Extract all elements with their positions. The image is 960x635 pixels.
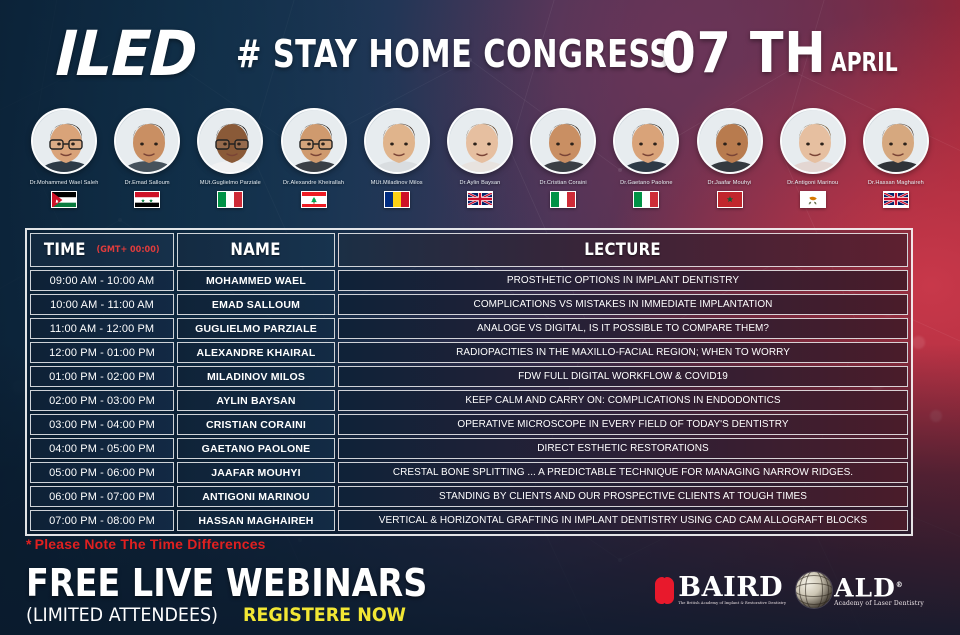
header-cell-name: NAME [177,233,335,267]
time-difference-note: *Please Note The Time Differences [26,536,266,552]
cell-name: MOHAMMED WAEL [177,270,335,291]
cell-time: 11:00 AM - 12:00 PM [30,318,174,339]
ald-wordmark: ALD [834,573,896,602]
speaker-name: MUt.Guglielmo Parziale [200,179,261,187]
avatar [780,108,846,174]
time-value: 04:00 PM - 05:00 PM [49,443,155,455]
table-row: 09:00 AM - 10:00 AMMOHAMMED WAELPROSTHET… [30,270,908,291]
avatar [281,108,347,174]
asterisk-icon: * [26,536,32,552]
speaker-card: Dr.Mohammed Wael Saleh [24,108,104,208]
time-value: 05:00 PM - 06:00 PM [49,467,155,479]
speaker-name: Dr.Aylin Baysan [459,179,500,187]
time-value: 09:00 AM - 10:00 AM [50,275,155,287]
cell-time: 04:00 PM - 05:00 PM [30,438,174,459]
header-label-name: NAME [231,240,281,260]
speaker-card: Dr.Antigoni Marinou [773,108,853,208]
speaker-card: Dr.Cristian Coraini [523,108,603,208]
table-row: 01:00 PM - 02:00 PMMILADINOV MILOSFDW FU… [30,366,908,387]
baird-logo: BAIRD The British Academy of Implant & R… [655,574,786,606]
speaker-value: MILADINOV MILOS [207,371,305,383]
cell-time: 03:00 PM - 04:00 PM [30,414,174,435]
speaker-name: Dr.Emad Salloum [125,179,170,187]
header-cell-lecture: LECTURE [338,233,908,267]
lecture-value: VERTICAL & HORIZONTAL GRAFTING IN IMPLAN… [379,515,867,526]
poster-header: ILED # STAY HOME CONGRESS 07 TH APRIL [0,14,960,94]
sponsor-logos: BAIRD The British Academy of Implant & R… [655,572,924,608]
flag-jordan [51,191,77,208]
time-value: 11:00 AM - 12:00 PM [50,323,154,335]
header-cell-time: TIME (GMT+ 00:00) [30,233,174,267]
time-value: 12:00 PM - 01:00 PM [49,347,155,359]
cell-lecture: FDW FULL DIGITAL WORKFLOW & COVID19 [338,366,908,387]
cell-name: GAETANO PAOLONE [177,438,335,459]
lecture-value: STANDING BY CLIENTS AND OUR PROSPECTIVE … [439,491,807,502]
cell-name: AYLIN BAYSAN [177,390,335,411]
cell-lecture: PROSTHETIC OPTIONS IN IMPLANT DENTISTRY [338,270,908,291]
register-now-cta[interactable]: REGISTERE NOW [243,604,406,626]
cell-time: 12:00 PM - 01:00 PM [30,342,174,363]
time-value: 06:00 PM - 07:00 PM [49,491,155,503]
avatar [863,108,929,174]
globe-icon [796,572,832,608]
ald-logo: ALD® Academy of Laser Dentistry [796,572,924,608]
cell-time: 07:00 PM - 08:00 PM [30,510,174,531]
lecture-value: CRESTAL BONE SPLITTING ... A PREDICTABLE… [393,467,853,478]
speaker-name: MUt.Miladinov Milos [371,179,423,187]
lecture-value: RADIOPACITIES IN THE MAXILLO-FACIAL REGI… [456,347,790,358]
table-row: 06:00 PM - 07:00 PMANTIGONI MARINOUSTAND… [30,486,908,507]
avatar [530,108,596,174]
cell-lecture: STANDING BY CLIENTS AND OUR PROSPECTIVE … [338,486,908,507]
cell-time: 09:00 AM - 10:00 AM [30,270,174,291]
avatar [697,108,763,174]
lecture-value: COMPLICATIONS VS MISTAKES IN IMMEDIATE I… [474,299,773,310]
flag-italy [217,191,243,208]
cell-time: 06:00 PM - 07:00 PM [30,486,174,507]
speaker-value: EMAD SALLOUM [212,299,300,311]
registered-icon: ® [896,580,904,589]
speaker-value: ANTIGONI MARINOU [202,491,310,503]
cell-lecture: DIRECT ESTHETIC RESTORATIONS [338,438,908,459]
tooth-icon [655,577,674,604]
cell-name: ANTIGONI MARINOU [177,486,335,507]
header-label-time: TIME [44,240,86,260]
lecture-value: DIRECT ESTHETIC RESTORATIONS [537,443,708,454]
baird-name: BAIRD [678,574,786,601]
baird-subtitle: The British Academy of Implant & Restora… [678,601,786,606]
avatar [613,108,679,174]
speaker-card: Dr.Gaetano Paolone [606,108,686,208]
cell-name: MILADINOV MILOS [177,366,335,387]
cell-time: 10:00 AM - 11:00 AM [30,294,174,315]
flag-uk [883,191,909,208]
cell-lecture: ANALOGE VS DIGITAL, IS IT POSSIBLE TO CO… [338,318,908,339]
cell-name: HASSAN MAGHAIREH [177,510,335,531]
date-month: APRIL [831,48,898,78]
speaker-name: Dr.Antigoni Marinou [787,179,838,187]
flag-cyprus [800,191,826,208]
time-value: 02:00 PM - 03:00 PM [49,395,155,407]
lecture-value: ANALOGE VS DIGITAL, IS IT POSSIBLE TO CO… [477,323,769,334]
registration-line: (LIMITED ATTENDEES) REGISTERE NOW [26,604,420,626]
lecture-value: PROSTHETIC OPTIONS IN IMPLANT DENTISTRY [507,275,739,286]
speaker-card: Dr.Jaafar Mouhyi [690,108,770,208]
flag-syria [134,191,160,208]
cell-name: CRISTIAN CORAINI [177,414,335,435]
table-row: 04:00 PM - 05:00 PMGAETANO PAOLONEDIRECT… [30,438,908,459]
cell-time: 05:00 PM - 06:00 PM [30,462,174,483]
time-value: 07:00 PM - 08:00 PM [49,515,155,527]
table-body: 09:00 AM - 10:00 AMMOHAMMED WAELPROSTHET… [30,270,908,531]
table-row: 11:00 AM - 12:00 PMGUGLIELMO PARZIALEANA… [30,318,908,339]
baird-text: BAIRD The British Academy of Implant & R… [678,574,786,606]
limited-attendees-label: (LIMITED ATTENDEES) [26,604,218,626]
cell-name: ALEXANDRE KHAIRAL [177,342,335,363]
speaker-row: Dr.Mohammed Wael Saleh Dr.Emad Salloum M [24,108,936,218]
speaker-value: CRISTIAN CORAINI [206,419,306,431]
iled-logo: ILED [55,23,198,85]
speaker-name: Dr.Gaetano Paolone [620,179,673,187]
speaker-card: Dr.Aylin Baysan [440,108,520,208]
speaker-card: Dr.Hassan Maghaireh [856,108,936,208]
date-number: 07 TH [662,26,827,82]
header-label-lecture: LECTURE [585,240,662,260]
lecture-value: FDW FULL DIGITAL WORKFLOW & COVID19 [518,371,728,382]
flag-lebanon [301,191,327,208]
speaker-name: Dr.Hassan Maghaireh [868,179,924,187]
speaker-value: GAETANO PAOLONE [202,443,311,455]
speaker-name: Dr.Cristian Coraini [539,179,586,187]
flag-romania [384,191,410,208]
free-webinars-headline: FREE LIVE WEBINARS [26,563,427,603]
speaker-value: JAAFAR MOUHYI [211,467,301,479]
speaker-value: MOHAMMED WAEL [206,275,306,287]
cell-name: EMAD SALLOUM [177,294,335,315]
avatar [197,108,263,174]
table-row: 10:00 AM - 11:00 AMEMAD SALLOUMCOMPLICAT… [30,294,908,315]
flag-uk [467,191,493,208]
table-header-row: TIME (GMT+ 00:00) NAME LECTURE [30,233,908,267]
time-value: 01:00 PM - 02:00 PM [49,371,155,383]
hashtag-title: # STAY HOME CONGRESS [236,34,672,74]
avatar [114,108,180,174]
speaker-name: Dr.Mohammed Wael Saleh [30,179,99,187]
lecture-value: OPERATIVE MICROSCOPE IN EVERY FIELD OF T… [457,419,788,430]
speaker-name: Dr.Alexandre Kheirallah [283,179,344,187]
cell-name: GUGLIELMO PARZIALE [177,318,335,339]
cell-lecture: COMPLICATIONS VS MISTAKES IN IMMEDIATE I… [338,294,908,315]
flag-italy [633,191,659,208]
table-row: 05:00 PM - 06:00 PMJAAFAR MOUHYICRESTAL … [30,462,908,483]
note-text: Please Note The Time Differences [35,536,266,552]
table-row: 03:00 PM - 04:00 PMCRISTIAN CORAINIOPERA… [30,414,908,435]
speaker-value: GUGLIELMO PARZIALE [195,323,317,335]
table-row: 02:00 PM - 03:00 PMAYLIN BAYSANKEEP CALM… [30,390,908,411]
cell-lecture: VERTICAL & HORIZONTAL GRAFTING IN IMPLAN… [338,510,908,531]
table-row: 12:00 PM - 01:00 PMALEXANDRE KHAIRALRADI… [30,342,908,363]
ald-text: ALD® Academy of Laser Dentistry [834,572,924,608]
cell-time: 02:00 PM - 03:00 PM [30,390,174,411]
flag-morocco [717,191,743,208]
table-row: 07:00 PM - 08:00 PMHASSAN MAGHAIREHVERTI… [30,510,908,531]
avatar [364,108,430,174]
speaker-card: Dr.Alexandre Kheirallah [274,108,354,208]
speaker-card: MUt.Guglielmo Parziale [190,108,270,208]
time-value: 10:00 AM - 11:00 AM [50,299,154,311]
avatar [31,108,97,174]
avatar [447,108,513,174]
cell-lecture: CRESTAL BONE SPLITTING ... A PREDICTABLE… [338,462,908,483]
time-value: 03:00 PM - 04:00 PM [49,419,155,431]
flag-italy [550,191,576,208]
event-date: 07 TH APRIL [639,26,916,82]
cell-lecture: RADIOPACITIES IN THE MAXILLO-FACIAL REGI… [338,342,908,363]
cell-time: 01:00 PM - 02:00 PM [30,366,174,387]
lecture-value: KEEP CALM AND CARRY ON: COMPLICATIONS IN… [465,395,780,406]
speaker-card: Dr.Emad Salloum [107,108,187,208]
ald-name: ALD® [834,572,924,600]
speaker-name: Dr.Jaafar Mouhyi [708,179,752,187]
cell-name: JAAFAR MOUHYI [177,462,335,483]
speaker-value: AYLIN BAYSAN [216,395,295,407]
speaker-card: MUt.Miladinov Milos [357,108,437,208]
cell-lecture: OPERATIVE MICROSCOPE IN EVERY FIELD OF T… [338,414,908,435]
speaker-value: ALEXANDRE KHAIRAL [197,347,316,359]
speaker-value: HASSAN MAGHAIREH [198,515,313,527]
cell-lecture: KEEP CALM AND CARRY ON: COMPLICATIONS IN… [338,390,908,411]
schedule-table: TIME (GMT+ 00:00) NAME LECTURE 09:00 AM … [25,228,913,536]
header-label-gmt: (GMT+ 00:00) [97,245,160,255]
